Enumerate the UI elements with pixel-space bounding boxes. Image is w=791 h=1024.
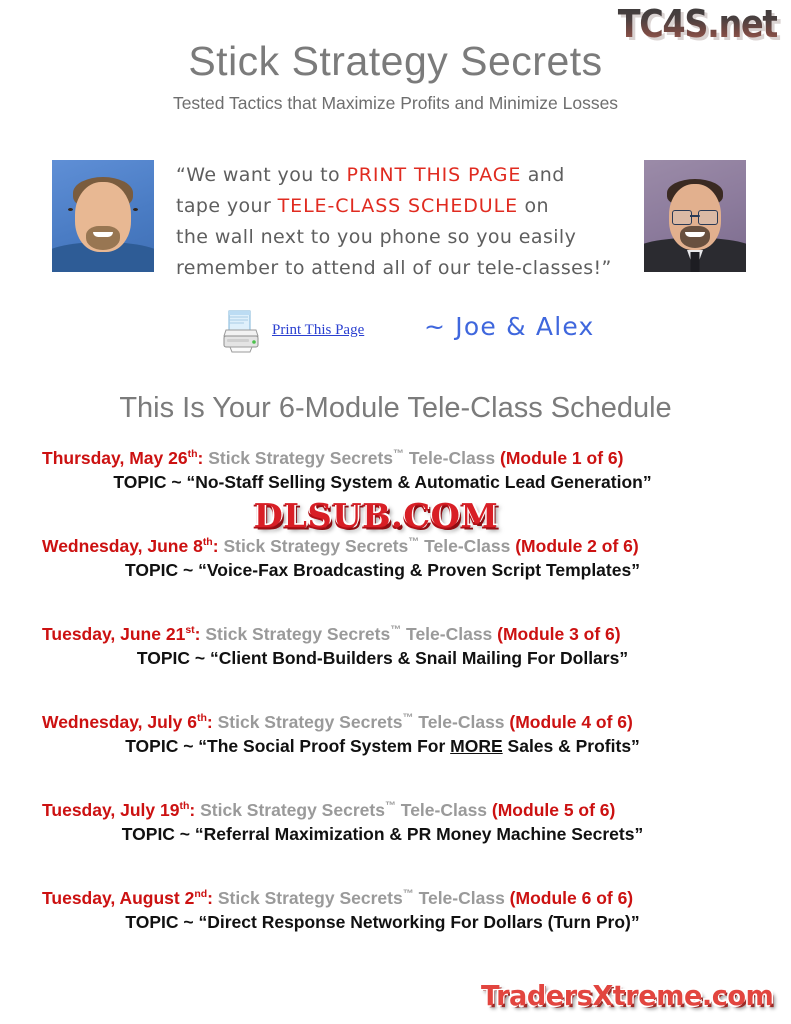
module-entry: Tuesday, July 19th: Stick Strategy Secre…	[0, 800, 791, 888]
trademark-symbol: ™	[385, 800, 396, 812]
date-ordinal: th	[197, 712, 207, 724]
topic-prefix: TOPIC ~	[122, 824, 195, 844]
printer-icon	[216, 306, 264, 354]
module-entry: Tuesday, June 21st: Stick Strategy Secre…	[0, 624, 791, 712]
photo-smile	[685, 232, 705, 237]
glasses-icon	[672, 210, 718, 223]
trademark-symbol: ™	[390, 624, 401, 636]
module-tag: (Module 2 of 6)	[515, 536, 638, 556]
module-topic: TOPIC ~ “Voice-Fax Broadcasting & Proven…	[0, 560, 791, 581]
date-ordinal: th	[203, 536, 213, 548]
module-series-name: Stick Strategy Secrets™ Tele-Class	[218, 712, 510, 732]
module-tag: (Module 5 of 6)	[492, 800, 615, 820]
module-topic: TOPIC ~ “Referral Maximization & PR Mone…	[0, 824, 791, 845]
quote-line-1: “We want you to PRINT THIS PAGE and	[176, 160, 636, 191]
portrait-left	[52, 160, 154, 272]
photo-smile	[93, 232, 113, 237]
module-date-line: Tuesday, June 21st: Stick Strategy Secre…	[0, 624, 791, 645]
module-tag: (Module 6 of 6)	[510, 888, 633, 908]
signature: ~ Joe & Alex	[424, 312, 595, 341]
tradersxtreme-logo: TradersXtreme.com	[481, 979, 773, 1012]
module-series-name: Stick Strategy Secrets™ Tele-Class	[218, 888, 510, 908]
print-this-page-label[interactable]: Print This Page	[272, 322, 364, 339]
module-series-name: Stick Strategy Secrets™ Tele-Class	[208, 448, 500, 468]
date-ordinal: th	[179, 800, 189, 812]
topic-prefix: TOPIC ~	[125, 912, 198, 932]
module-colon: :	[207, 712, 218, 732]
page-title: Stick Strategy Secrets	[0, 38, 791, 85]
portrait-right	[644, 160, 746, 272]
flyer-page: TC4S.net TC4S.net Stick Strategy Secrets…	[0, 0, 791, 1024]
topic-text-tail: Sales & Profits”	[503, 736, 640, 756]
quote-highlight-print: PRINT THIS PAGE	[346, 164, 521, 186]
module-series-name: Stick Strategy Secrets™ Tele-Class	[200, 800, 492, 820]
module-entry: Wednesday, July 6th: Stick Strategy Secr…	[0, 712, 791, 800]
quote-line-2: tape your TELE-CLASS SCHEDULE on	[176, 191, 636, 222]
module-series-name: Stick Strategy Secrets™ Tele-Class	[205, 624, 497, 644]
topic-prefix: TOPIC ~	[125, 560, 198, 580]
trademark-symbol: ™	[393, 448, 404, 460]
topic-emphasis: MORE	[450, 736, 503, 756]
module-topic: TOPIC ~ “No-Staff Selling System & Autom…	[0, 472, 791, 493]
print-this-page-button[interactable]: Print This Page	[216, 306, 364, 354]
module-series-name: Stick Strategy Secrets™ Tele-Class	[223, 536, 515, 556]
module-colon: :	[189, 800, 200, 820]
module-date-line: Wednesday, June 8th: Stick Strategy Secr…	[0, 536, 791, 557]
module-colon: :	[198, 448, 209, 468]
module-topic: TOPIC ~ “The Social Proof System For MOR…	[0, 736, 791, 757]
topic-text: “Voice-Fax Broadcasting & Proven Script …	[198, 560, 640, 580]
schedule-heading: This Is Your 6-Module Tele-Class Schedul…	[0, 392, 791, 425]
quote-line-3: the wall next to you phone so you easily	[176, 222, 636, 253]
module-date: Tuesday, June 21st	[42, 624, 195, 644]
module-colon: :	[207, 888, 218, 908]
module-date: Wednesday, June 8th	[42, 536, 213, 556]
trademark-symbol: ™	[408, 536, 419, 548]
date-ordinal: st	[185, 624, 194, 636]
topic-text: “No-Staff Selling System & Automatic Lea…	[186, 472, 651, 492]
topic-prefix: TOPIC ~	[125, 736, 198, 756]
topic-text: “Direct Response Networking For Dollars …	[198, 912, 639, 932]
topic-text: “Referral Maximization & PR Money Machin…	[195, 824, 643, 844]
photo-tie	[691, 252, 700, 272]
trademark-symbol: ™	[403, 888, 414, 900]
photo-eye-left	[68, 208, 73, 211]
topic-prefix: TOPIC ~	[137, 648, 210, 668]
module-tag: (Module 4 of 6)	[509, 712, 632, 732]
date-ordinal: nd	[194, 888, 207, 900]
topic-prefix: TOPIC ~	[113, 472, 186, 492]
trademark-symbol: ™	[402, 712, 413, 724]
photo-beard	[86, 226, 120, 250]
handwritten-quote: “We want you to PRINT THIS PAGE and tape…	[176, 160, 636, 284]
module-date: Thursday, May 26th	[42, 448, 198, 468]
module-topic: TOPIC ~ “Direct Response Networking For …	[0, 912, 791, 933]
module-date: Tuesday, July 19th	[42, 800, 189, 820]
module-entry: Tuesday, August 2nd: Stick Strategy Secr…	[0, 888, 791, 976]
module-tag: (Module 3 of 6)	[497, 624, 620, 644]
module-date-line: Tuesday, July 19th: Stick Strategy Secre…	[0, 800, 791, 821]
module-date-line: Thursday, May 26th: Stick Strategy Secre…	[0, 448, 791, 469]
module-topic: TOPIC ~ “Client Bond-Builders & Snail Ma…	[0, 648, 791, 669]
date-ordinal: th	[188, 448, 198, 460]
module-date-line: Wednesday, July 6th: Stick Strategy Secr…	[0, 712, 791, 733]
module-date-line: Tuesday, August 2nd: Stick Strategy Secr…	[0, 888, 791, 909]
quote-line-4: remember to attend all of our tele-class…	[176, 253, 636, 284]
quote-highlight-schedule: TELE-CLASS SCHEDULE	[278, 195, 518, 217]
photo-beard	[680, 226, 710, 248]
module-date: Tuesday, August 2nd	[42, 888, 207, 908]
watermark: DLSUB.COM	[254, 496, 499, 535]
module-date: Wednesday, July 6th	[42, 712, 207, 732]
module-colon: :	[195, 624, 206, 644]
photo-eye-right	[133, 208, 138, 211]
topic-text: “Client Bond-Builders & Snail Mailing Fo…	[210, 648, 628, 668]
page-subtitle: Tested Tactics that Maximize Profits and…	[0, 93, 791, 114]
topic-text: “The Social Proof System For	[198, 736, 450, 756]
module-tag: (Module 1 of 6)	[500, 448, 623, 468]
module-colon: :	[213, 536, 224, 556]
module-entry: Wednesday, June 8th: Stick Strategy Secr…	[0, 536, 791, 624]
